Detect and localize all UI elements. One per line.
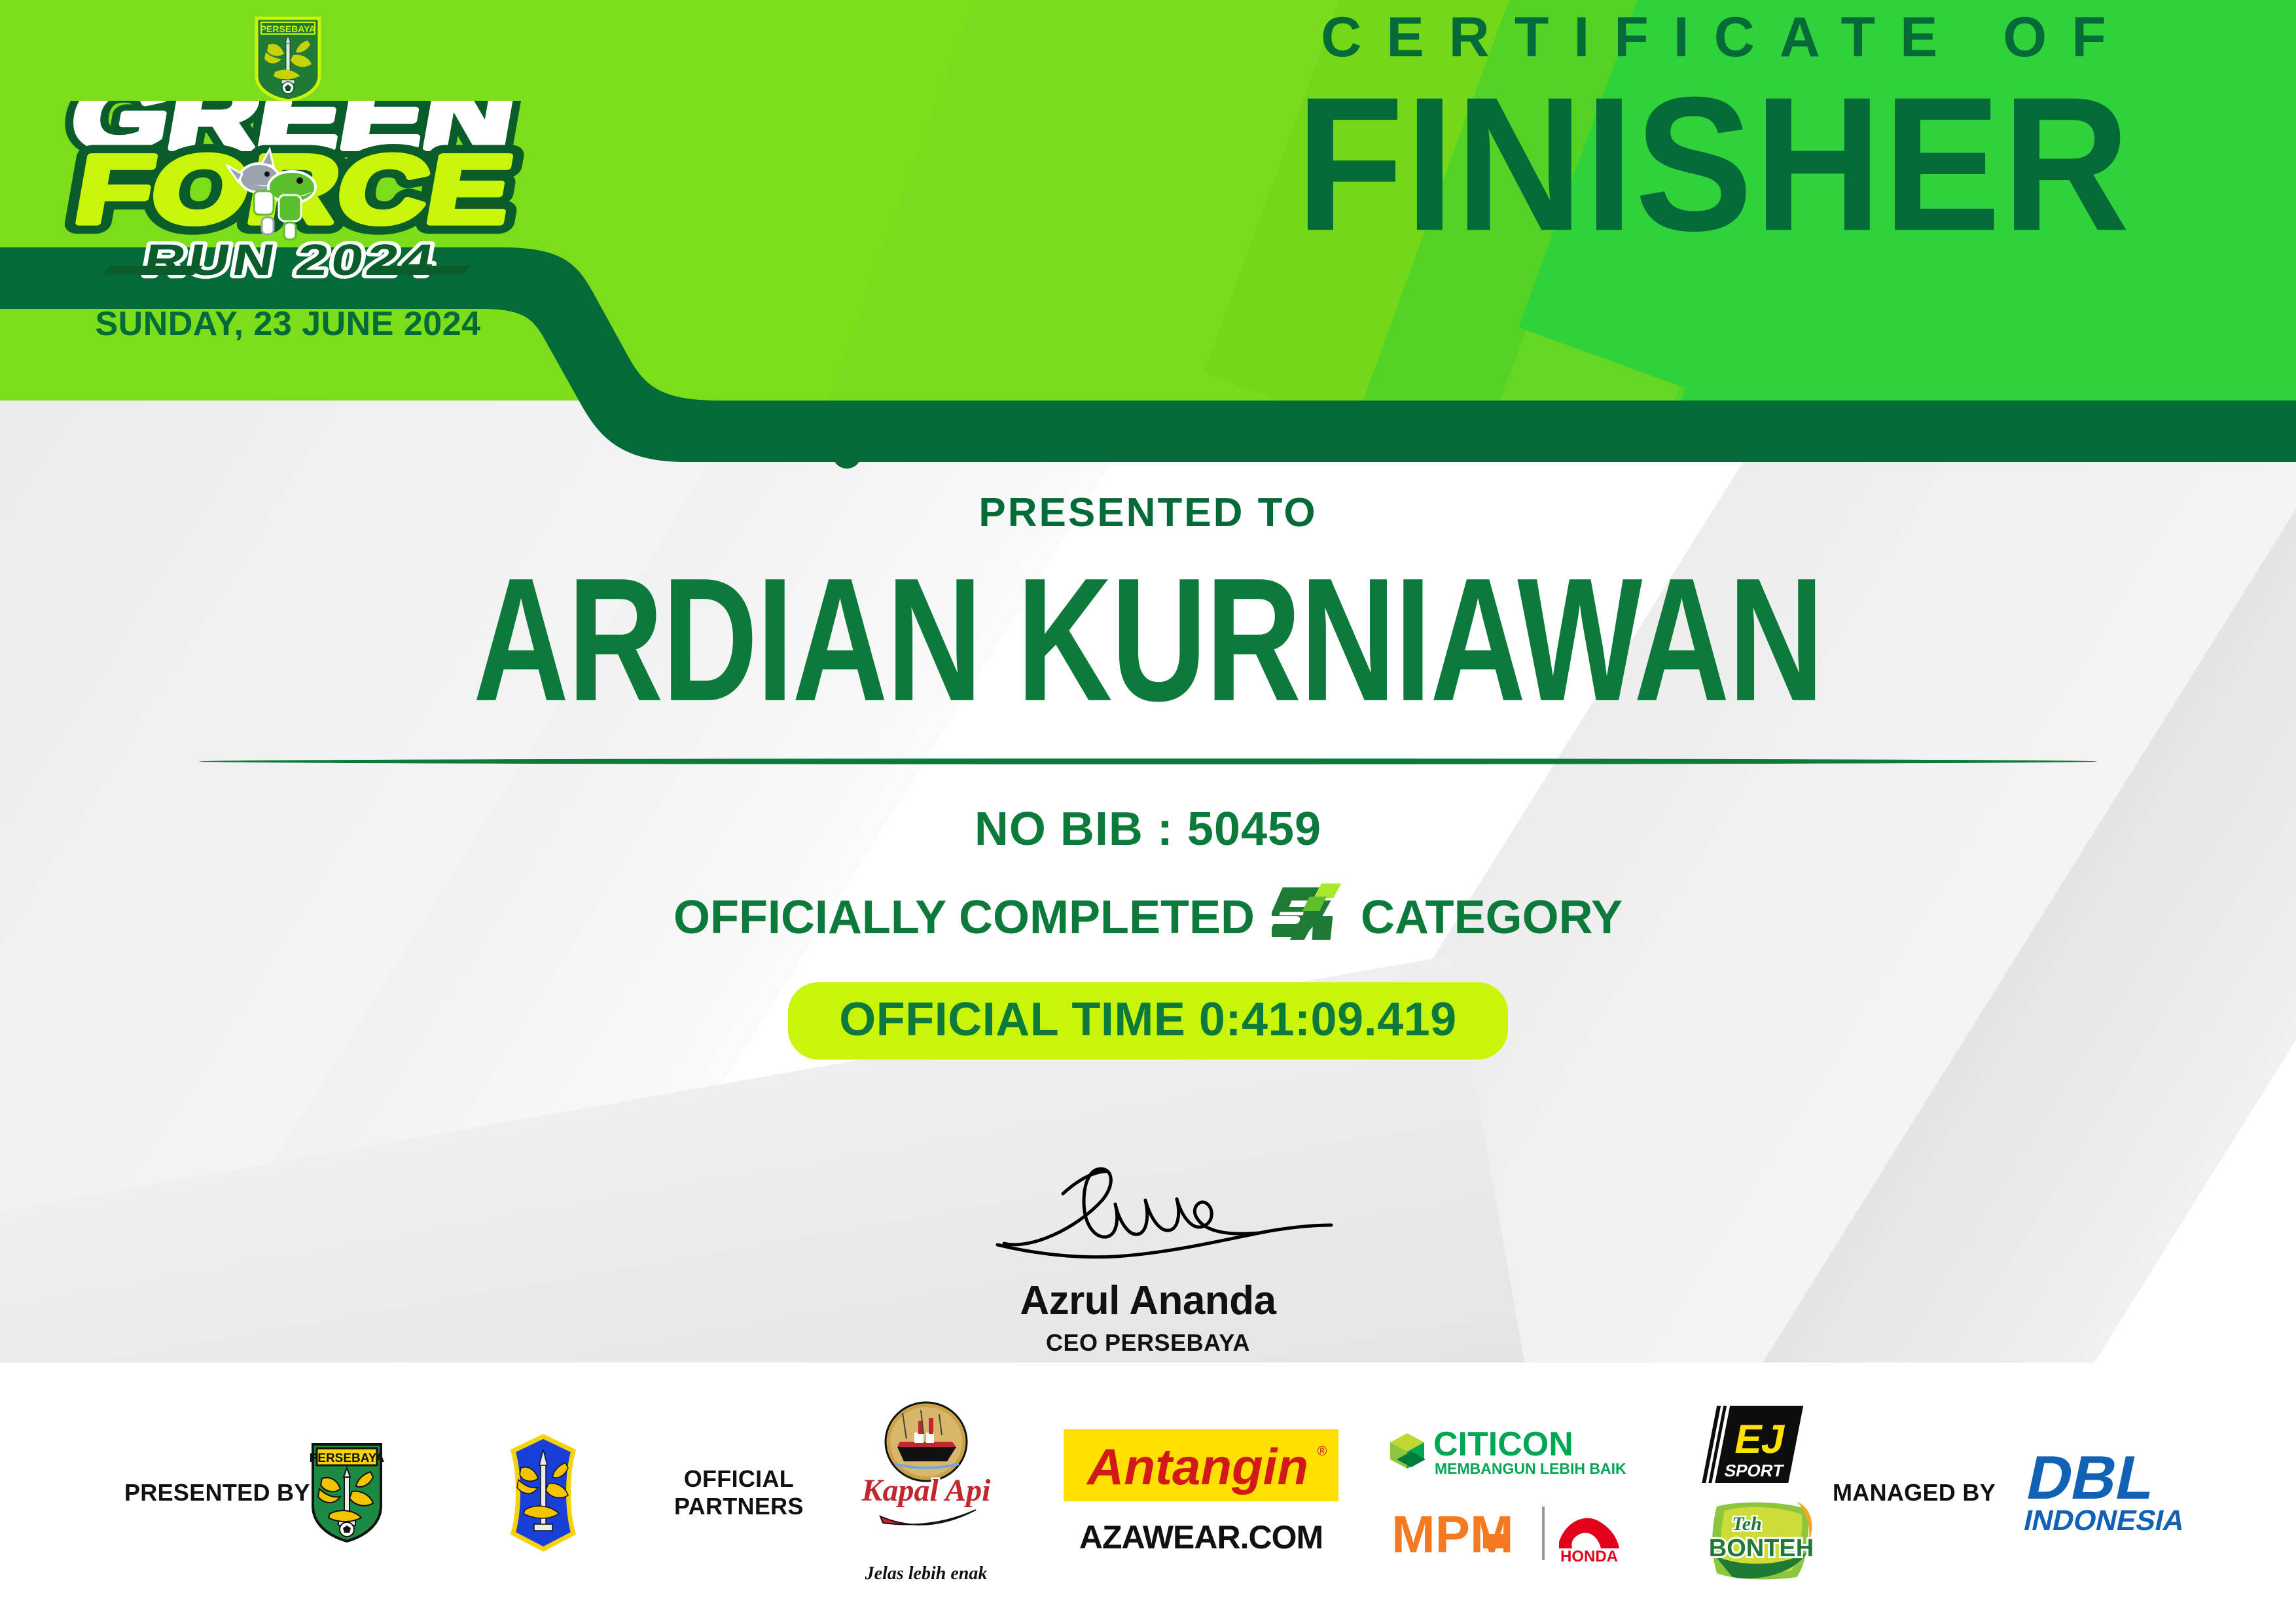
svg-text:MEMBANGUN LEBIH BAIK: MEMBANGUN LEBIH BAIK — [1435, 1460, 1626, 1477]
svg-text:SPORT: SPORT — [1723, 1461, 1785, 1480]
signature-icon — [919, 1152, 1377, 1276]
svg-text:PERSEBAYA: PERSEBAYA — [260, 24, 316, 34]
header-accent-rule — [857, 452, 2296, 456]
official-partners-label: OFFICIAL PARTNERS — [674, 1465, 804, 1521]
svg-text:Teh: Teh — [1732, 1513, 1762, 1535]
green-force-run-logo: .gfwhite{font-family:"Liberation Sans",s… — [39, 101, 537, 297]
name-divider — [199, 758, 2097, 764]
teh-bonteh-logo: Teh BONTEH — [1698, 1497, 1823, 1582]
svg-text:CITICON: CITICON — [1433, 1425, 1573, 1463]
svg-text:PERSEBAYA: PERSEBAYA — [310, 1452, 385, 1465]
signature-block: Azrul Ananda CEO PERSEBAYA — [0, 1152, 2296, 1357]
svg-text:DBL: DBL — [2021, 1444, 2162, 1512]
presented-to-label: PRESENTED TO — [0, 490, 2296, 536]
presented-by-label: PRESENTED BY — [124, 1479, 310, 1507]
persebaya-footer-logo: PERSEBAYA — [308, 1440, 386, 1545]
svg-text:BONTEH: BONTEH — [1709, 1535, 1814, 1562]
signatory-role: CEO PERSEBAYA — [0, 1329, 2296, 1357]
event-logo-block: PERSEBAYA .gfwhite{font-family:"Liberati… — [39, 7, 537, 399]
category-line: OFFICIALLY COMPLETED CATEGORY — [0, 883, 2296, 951]
event-date: SUNDAY, 23 JUNE 2024 — [39, 304, 537, 344]
svg-text:Antangin: Antangin — [1086, 1438, 1308, 1495]
completed-prefix: OFFICIALLY COMPLETED — [673, 891, 1255, 944]
signatory-name: Azrul Ananda — [0, 1277, 2296, 1324]
kapal-api-tagline: Jelas lebih enak — [865, 1563, 988, 1584]
persebaya-crest-icon: PERSEBAYA — [253, 16, 323, 103]
kapal-api-logo: Kapal Api — [861, 1401, 992, 1552]
svg-text:RUN 2024: RUN 2024 — [140, 236, 441, 284]
certificate-title: CERTIFICATE OF FINISHER — [1151, 9, 2276, 240]
recipient-name: ARDIAN KURNIAWAN — [92, 552, 2204, 727]
svg-text:INDONESIA: INDONESIA — [2021, 1505, 2188, 1536]
certificate-title-line2: FINISHER — [1151, 77, 2276, 253]
svg-text:Kapal Api: Kapal Api — [861, 1473, 992, 1508]
managed-by-label: MANAGED BY — [1833, 1479, 1996, 1507]
svg-text:®: ® — [1318, 1444, 1327, 1459]
completed-suffix: CATEGORY — [1361, 891, 1623, 944]
citicon-logo: CITICON MEMBANGUN LEBIH BAIK — [1388, 1421, 1649, 1480]
azawear-logo: AZAWEAR.COM — [1079, 1518, 1323, 1556]
svg-text:HONDA: HONDA — [1560, 1548, 1618, 1564]
ej-sport-logo: EJ SPORT — [1702, 1403, 1820, 1486]
antangin-logo: Antangin ® — [1064, 1429, 1338, 1501]
surabaya-city-logo — [504, 1434, 583, 1552]
certificate-title-line1: CERTIFICATE OF — [1151, 9, 2276, 65]
dbl-indonesia-logo: DBL INDONESIA — [2009, 1444, 2225, 1542]
official-time-badge: OFFICIAL TIME 0:41:09.419 — [788, 982, 1507, 1060]
footer-sponsors: PRESENTED BY PERSEBAYA — [0, 1363, 2296, 1623]
five-k-badge-icon — [1272, 883, 1344, 951]
certificate-root: PERSEBAYA .gfwhite{font-family:"Liberati… — [0, 0, 2296, 1623]
mpm-honda-logo: MPM HONDA — [1388, 1503, 1649, 1564]
bib-number: NO BIB : 50459 — [0, 802, 2296, 856]
svg-text:EJ: EJ — [1731, 1417, 1789, 1462]
